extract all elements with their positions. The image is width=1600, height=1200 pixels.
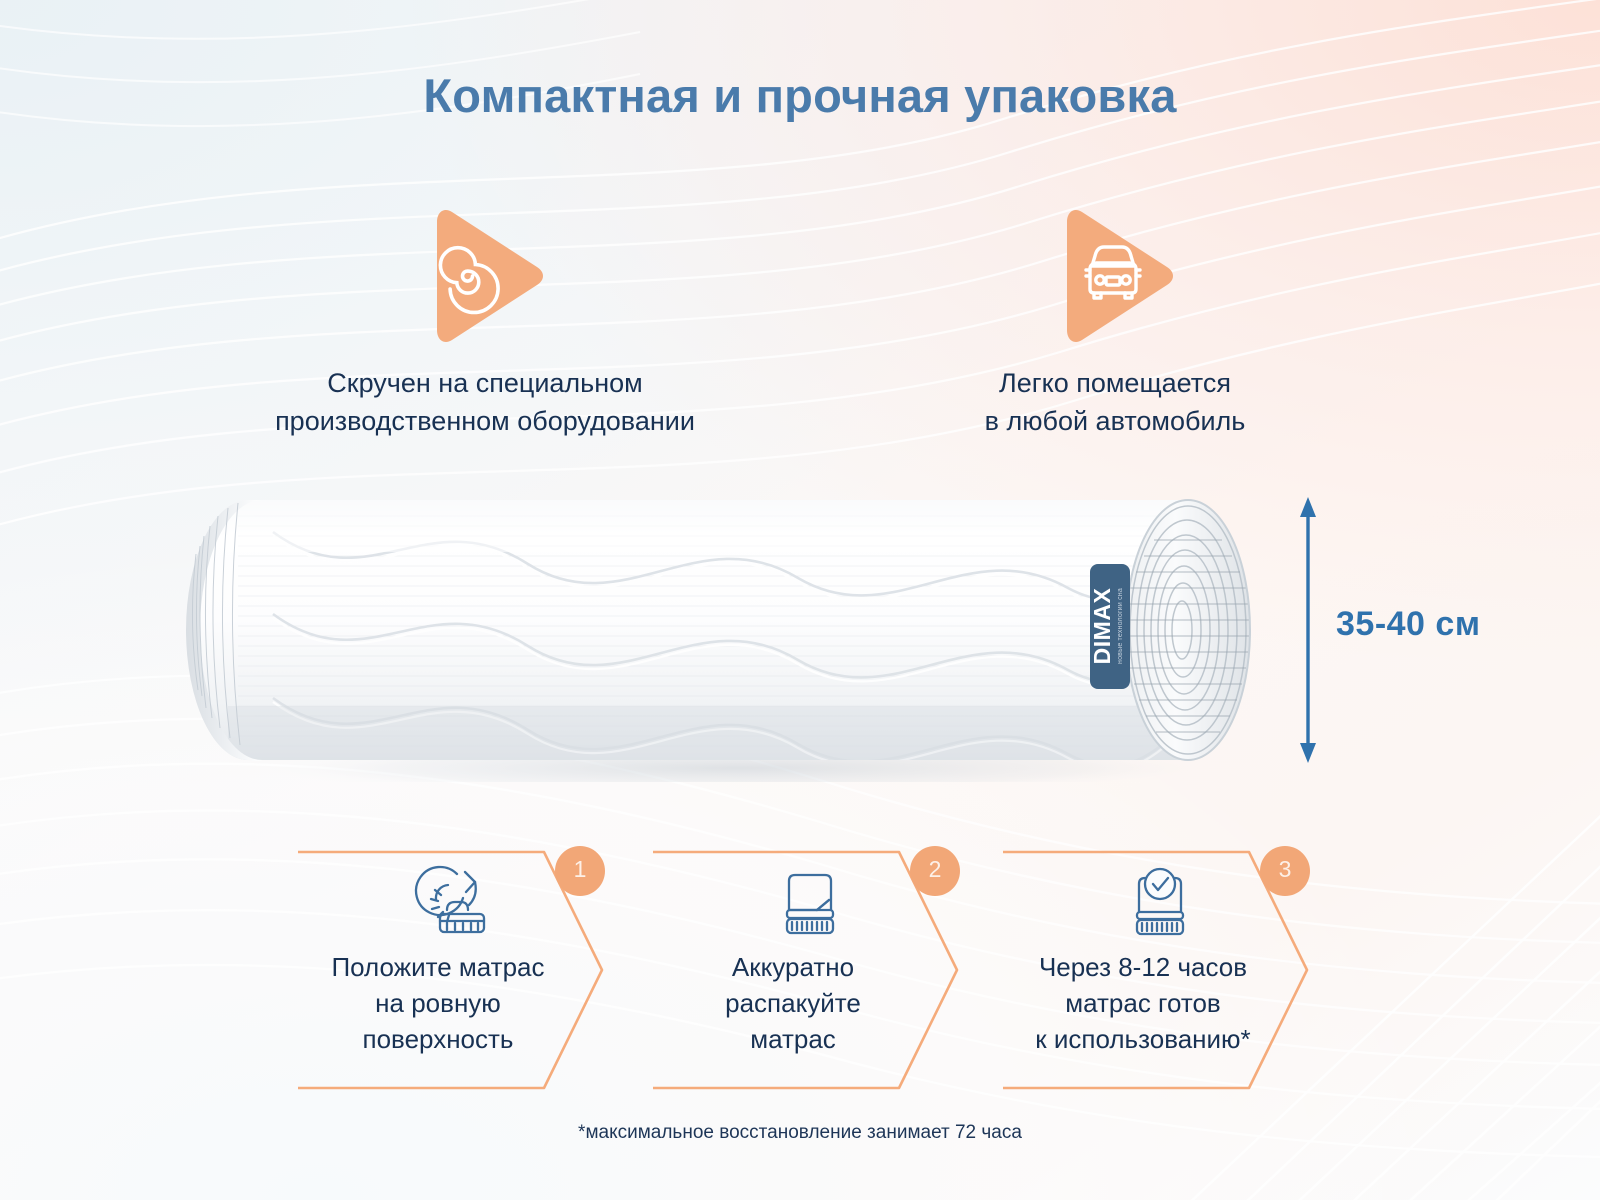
- car-front-icon: [1040, 200, 1190, 350]
- spiral-icon-container: [175, 200, 795, 350]
- svg-text:DIMAX: DIMAX: [1089, 588, 1115, 665]
- dimax-tag: DIMAX новые технологии сна: [1089, 564, 1130, 689]
- step-icon-container: [1001, 864, 1319, 942]
- mattress-roll-image: DIMAX новые технологии сна: [178, 492, 1268, 782]
- feature-block-rolled: Скручен на специальном производственном …: [175, 200, 795, 441]
- svg-text:новые технологии сна: новые технологии сна: [1117, 588, 1124, 664]
- step-item: 3 Через 8-12 часов матрас готов к исполь…: [1001, 846, 1319, 1094]
- feature-block-car: Легко помещается в любой автомобиль: [860, 200, 1370, 441]
- feature-caption: Скручен на специальном производственном …: [175, 364, 795, 441]
- mattress-ready-check-icon: [1117, 864, 1203, 942]
- dimension-arrow: [1288, 495, 1328, 765]
- step-item: 1 Положите матрас на ро: [296, 846, 614, 1094]
- car-icon-container: [860, 200, 1370, 350]
- unpack-mattress-icon: [767, 864, 853, 942]
- spiral-roll-icon: [410, 200, 560, 350]
- feature-caption: Легко помещается в любой автомобиль: [860, 364, 1370, 441]
- unroll-mattress-icon: [412, 864, 498, 942]
- step-label: Аккуратно распакуйте матрас: [643, 950, 943, 1058]
- step-label: Через 8-12 часов матрас готов к использо…: [993, 950, 1293, 1058]
- footnote-text: *максимальное восстановление занимает 72…: [0, 1122, 1600, 1144]
- dimension-label: 35-40 см: [1336, 605, 1480, 644]
- step-icon-container: [651, 864, 969, 942]
- page-title: Компактная и прочная упаковка: [0, 68, 1600, 123]
- steps-section: 1 Положите матрас на ро: [296, 846, 1306, 1094]
- infographic-canvas: Компактная и прочная упаковка Скручен на…: [0, 0, 1600, 1200]
- step-icon-container: [296, 864, 614, 942]
- step-item: 2 Аккуратно распакуйте матрас: [651, 846, 969, 1094]
- step-label: Положите матрас на ровную поверхность: [288, 950, 588, 1058]
